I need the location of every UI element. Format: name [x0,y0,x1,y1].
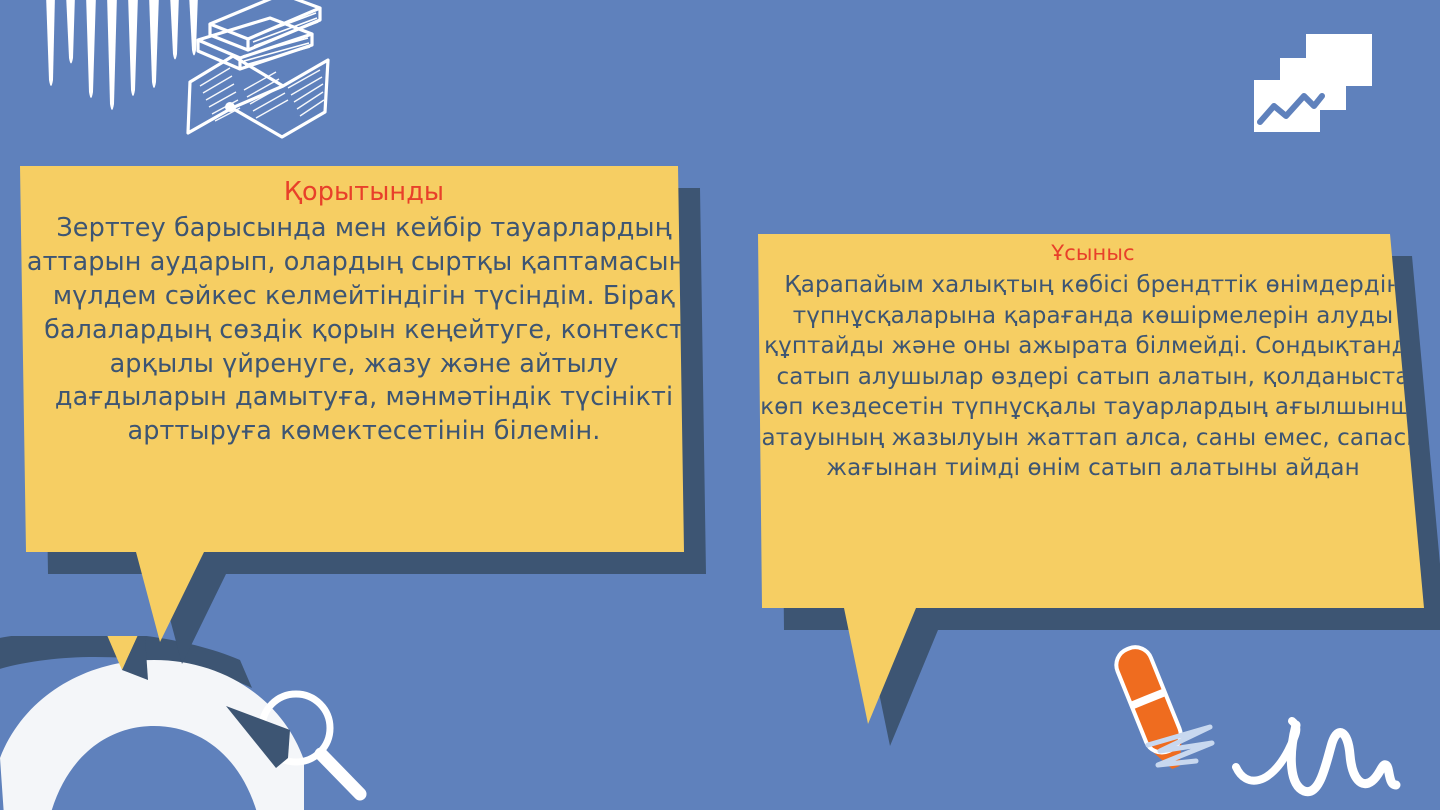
speech-bubble-left-text: ҚорытындыЗерттеу барысында мен кейбір та… [8,160,720,449]
slide-canvas: ҚорытындыЗерттеу барысында мен кейбір та… [0,0,1440,810]
speech-bubble-right-body: Қарапайым халықтың көбісі брендттік өнім… [760,272,1425,481]
speech-bubble-recommendation: ҰсынысҚарапайым халықтың көбісі брендтті… [748,228,1438,738]
speech-bubble-right-text: ҰсынысҚарапайым халықтың көбісі брендтті… [748,228,1438,484]
speech-bubble-conclusion: ҚорытындыЗерттеу барысында мен кейбір та… [8,160,720,672]
books-illustration-icon [20,0,350,154]
speech-bubble-left-body: Зерттеу барысында мен кейбір тауарлардың… [27,213,701,446]
speech-bubble-right-title: Ұсыныс [752,240,1434,268]
stacked-chart-cards-icon [1252,30,1392,150]
speech-bubble-left-title: Қорытынды [24,176,704,210]
